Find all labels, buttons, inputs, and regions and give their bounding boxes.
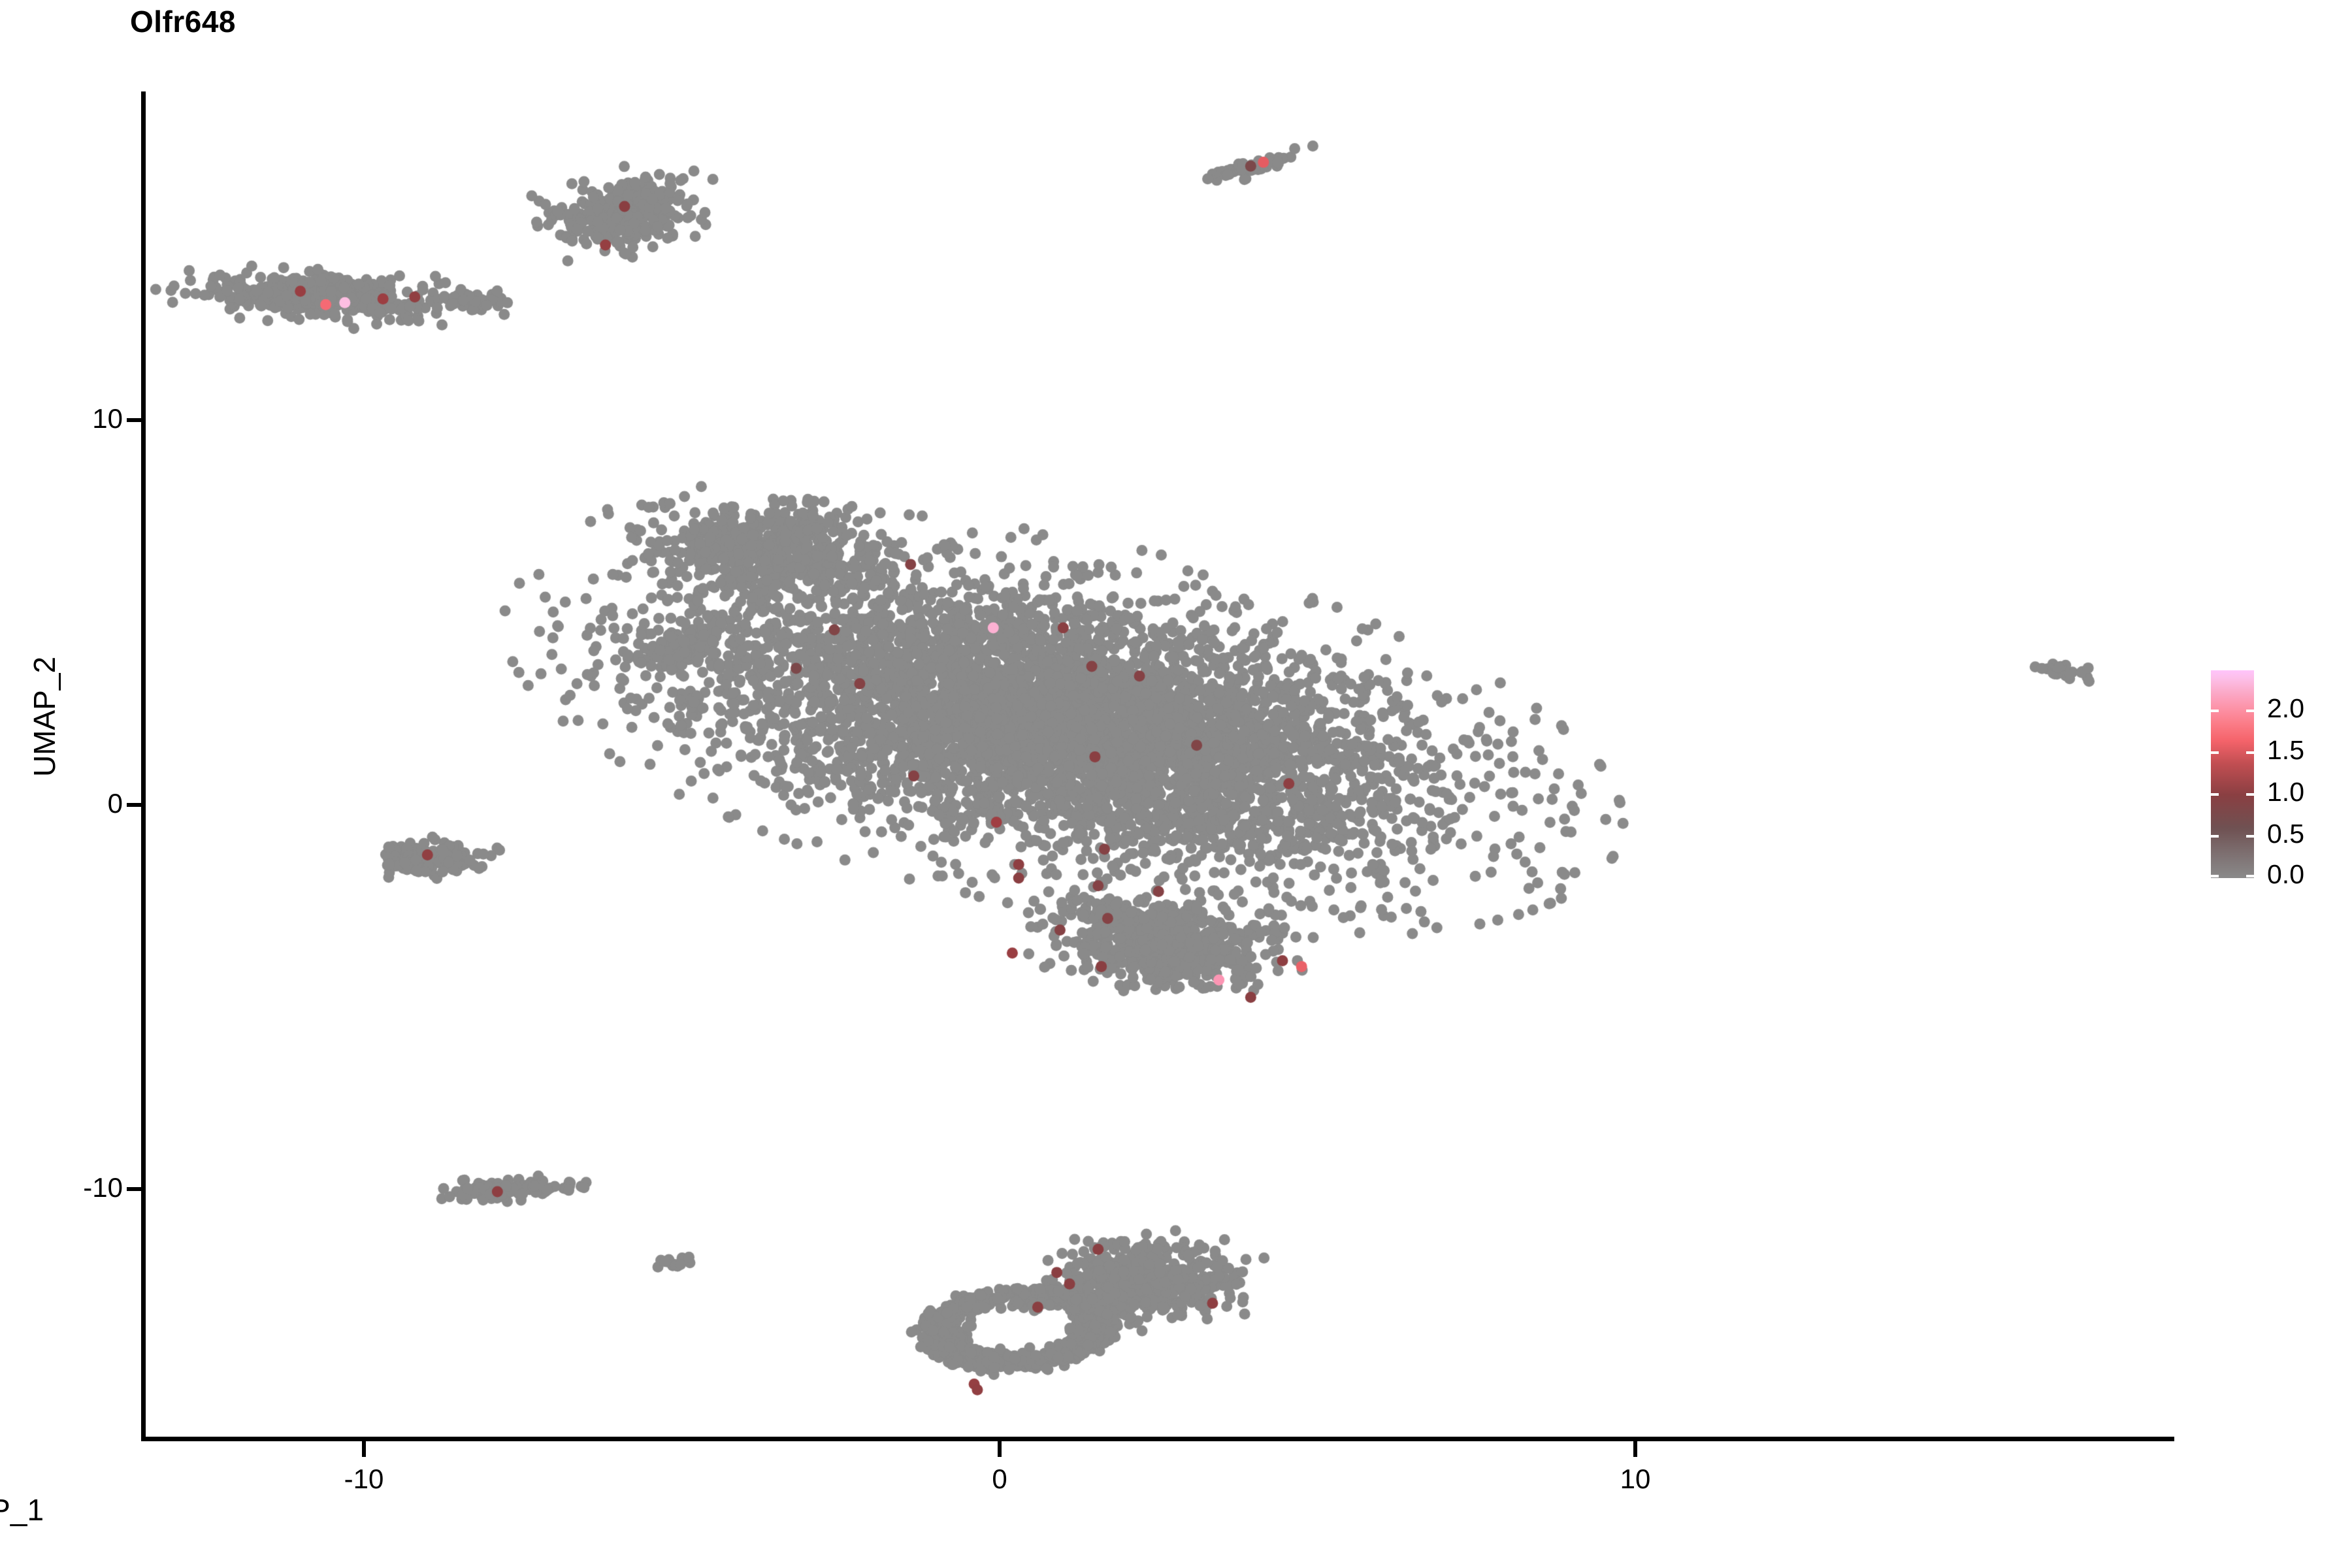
- x-tick-0: [998, 1441, 1002, 1457]
- legend-tick-left-1_5: [2211, 751, 2219, 754]
- legend-tick-right-2: [2246, 710, 2254, 712]
- legend-label-0_0: 0.0: [2267, 861, 2304, 888]
- legend-label-0_5: 0.5: [2267, 821, 2304, 847]
- x-axis-line: [141, 1437, 2174, 1441]
- x-tick-label--10: -10: [299, 1463, 429, 1495]
- y-tick-10: [127, 418, 141, 422]
- x-tick-label-0: 0: [934, 1463, 1065, 1495]
- y-tick-label--10: -10: [83, 1172, 123, 1203]
- legend-tick-left-0_5: [2211, 835, 2219, 838]
- legend-tick-right-1: [2246, 793, 2254, 796]
- x-tick-10: [1633, 1441, 1637, 1457]
- x-tick--10: [362, 1441, 366, 1457]
- legend-tick-right-0: [2246, 875, 2254, 877]
- x-tick-label-10: 10: [1570, 1463, 1701, 1495]
- legend-label-1_0: 1.0: [2267, 779, 2304, 806]
- legend-tick-left-2: [2211, 710, 2219, 712]
- umap-scatter-canvas: [0, 0, 2352, 1568]
- y-tick--10: [127, 1187, 141, 1191]
- y-tick-label-0: 0: [108, 788, 123, 819]
- x-axis-title: UMAP_1: [0, 1492, 2352, 1527]
- color-legend: 2.0 1.5 1.0 0.5 0.0: [2211, 670, 2335, 879]
- legend-tick-left-0: [2211, 875, 2219, 877]
- legend-tick-right-1_5: [2246, 751, 2254, 754]
- y-tick-label-10: 10: [92, 403, 123, 434]
- legend-label-2_0: 2.0: [2267, 695, 2304, 722]
- y-tick-0: [127, 803, 141, 807]
- y-axis-title: UMAP_2: [27, 580, 62, 854]
- x-axis-title-text: UMAP_1: [0, 1492, 44, 1527]
- feature-plot-page: Olfr648 10 0 -10 -10 0 10 UMAP_1 UMAP_2 …: [0, 0, 2352, 1568]
- legend-tick-right-0_5: [2246, 835, 2254, 838]
- legend-tick-left-1: [2211, 793, 2219, 796]
- legend-colorbar: [2211, 670, 2254, 878]
- y-axis-line: [141, 91, 146, 1441]
- legend-label-1_5: 1.5: [2267, 737, 2304, 764]
